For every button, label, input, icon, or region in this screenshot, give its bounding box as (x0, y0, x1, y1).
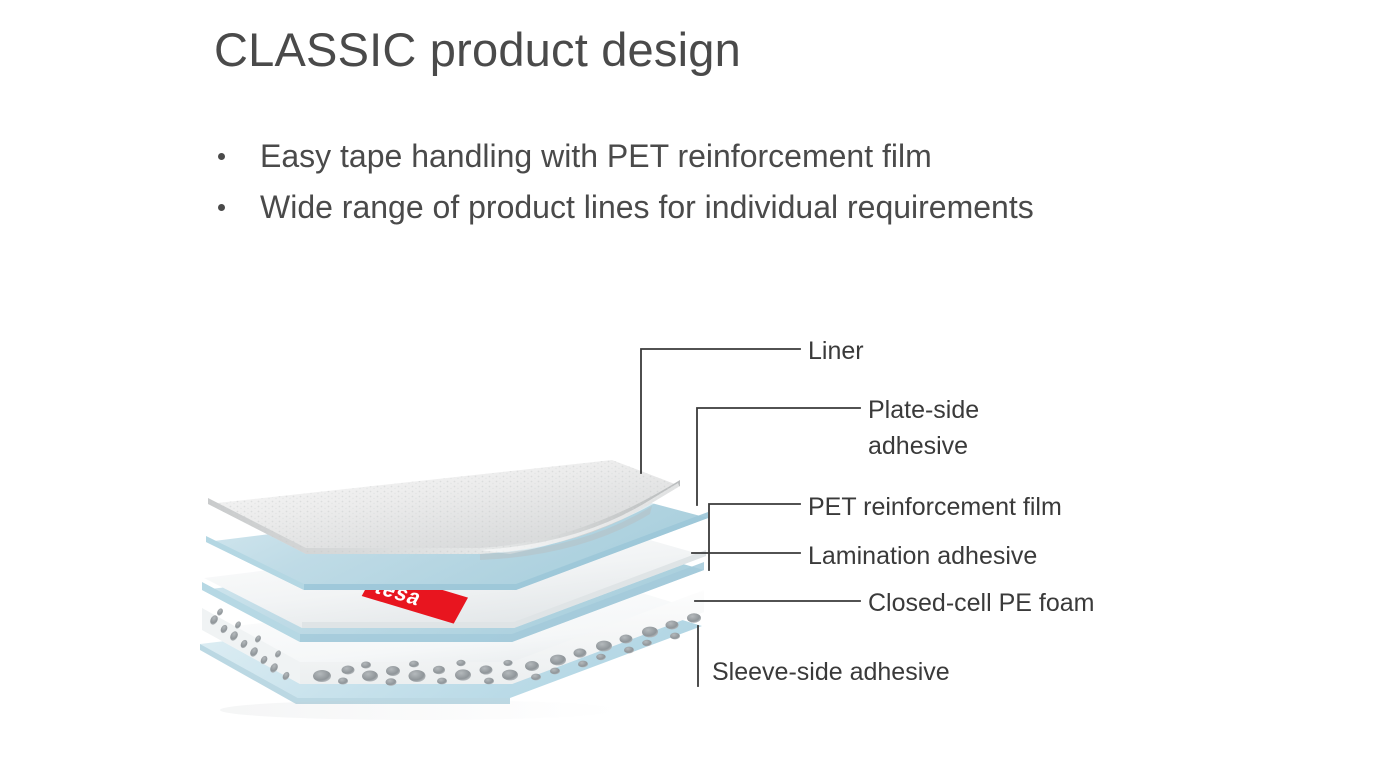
callout-label-liner: Liner (808, 333, 864, 369)
callout-label-pet-reinforcement-film: PET reinforcement film (808, 489, 1062, 525)
layer-stack-diagram: tesa (0, 0, 1380, 775)
callout-label-plate-side-adhesive: Plate-side adhesive (868, 392, 979, 464)
slide-canvas: CLASSIC product design Easy tape handlin… (0, 0, 1380, 775)
leader-pet-film (709, 504, 800, 570)
leader-liner (641, 349, 800, 473)
callout-leader-lines (0, 0, 1380, 775)
callout-label-lamination-adhesive: Lamination adhesive (808, 538, 1037, 574)
callout-label-sleeve-side-adhesive: Sleeve-side adhesive (712, 654, 950, 690)
callout-label-closed-cell-pe-foam: Closed-cell PE foam (868, 585, 1094, 621)
